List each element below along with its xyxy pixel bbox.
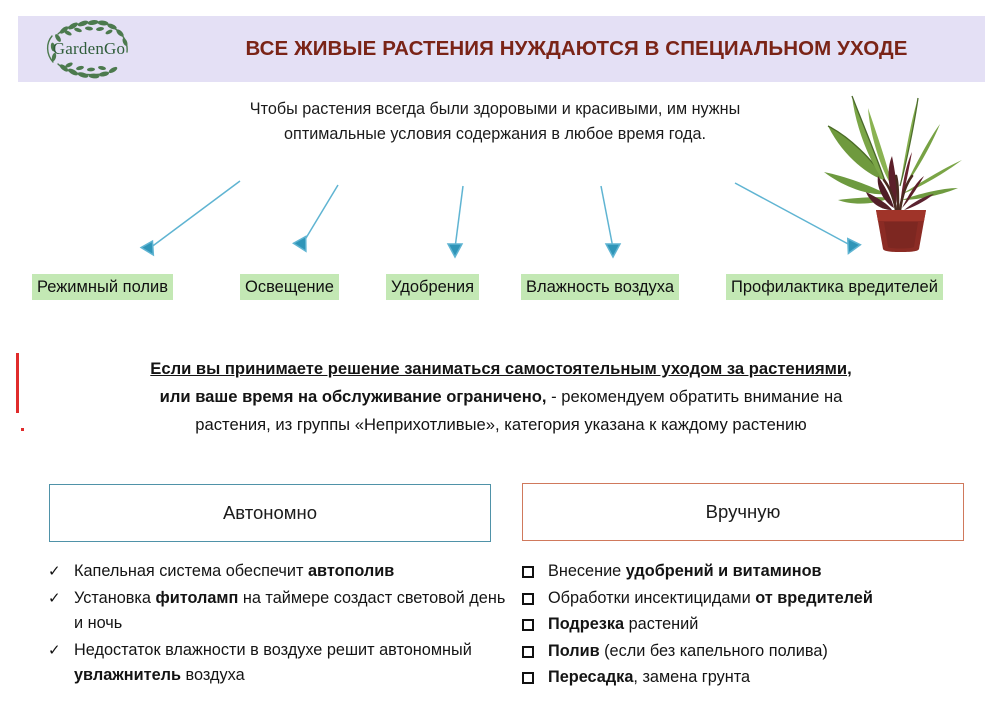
tag-profilaktika-vrediteley[interactable]: Профилактика вредителей	[726, 274, 943, 300]
manual-list: Внесение удобрений и витаминов Обработки…	[522, 559, 992, 692]
subtitle-line-2: оптимальные условия содержания в любое в…	[284, 125, 706, 143]
list-item[interactable]: ✓ Недостаток влажности в воздухе решит а…	[48, 638, 518, 689]
callout-line-2-rest: - рекомендуем обратить внимание на	[547, 387, 843, 406]
list-item-text: Обработки инсектицидами от вредителей	[548, 586, 992, 612]
list-item-text: Установка фитоламп на таймере создаст св…	[74, 586, 518, 637]
callout-accent-bar	[16, 353, 19, 413]
list-item-text: Капельная система обеспечит автополив	[74, 559, 518, 585]
column-header-autonomous-label: Автономно	[223, 502, 317, 524]
column-header-autonomous[interactable]: Автономно	[49, 484, 491, 542]
laurel-wreath-icon: GardenGo	[28, 18, 150, 80]
list-item[interactable]: Пересадка, замена грунта	[522, 665, 992, 691]
slide-canvas: GardenGo ВСЕ ЖИВЫЕ РАСТЕНИЯ НУЖДАЮТСЯ В …	[0, 0, 1000, 724]
list-item[interactable]: Внесение удобрений и витаминов	[522, 559, 992, 585]
checkbox-empty-icon[interactable]	[522, 586, 548, 612]
check-icon: ✓	[48, 559, 74, 585]
pointer-arrow-4	[601, 186, 613, 248]
list-item-text: Внесение удобрений и витаминов	[548, 559, 992, 585]
column-header-manual-label: Вручную	[706, 501, 781, 523]
list-item[interactable]: ✓ Установка фитоламп на таймере создаст …	[48, 586, 518, 637]
list-item-text: Недостаток влажности в воздухе решит авт…	[74, 638, 518, 689]
header-band: GardenGo ВСЕ ЖИВЫЕ РАСТЕНИЯ НУЖДАЮТСЯ В …	[18, 16, 985, 82]
logo-wordmark: GardenGo	[53, 39, 125, 58]
list-item-text: Полив (если без капельного полива)	[548, 639, 992, 665]
check-icon: ✓	[48, 586, 74, 612]
autonomous-list: ✓ Капельная система обеспечит автополив …	[48, 559, 518, 690]
pointer-arrow-2	[303, 185, 338, 243]
tag-vlazhnost-vozdukha[interactable]: Влажность воздуха	[521, 274, 679, 300]
callout-line-1: Если вы принимаете решение заниматься са…	[150, 359, 851, 378]
column-header-manual[interactable]: Вручную	[522, 483, 964, 541]
subtitle-line-1: Чтобы растения всегда были здоровыми и к…	[250, 100, 740, 118]
list-item[interactable]: ✓ Капельная система обеспечит автополив	[48, 559, 518, 585]
gardengo-logo: GardenGo	[28, 18, 150, 80]
checkbox-empty-icon[interactable]	[522, 559, 548, 585]
potted-plant-image	[822, 84, 982, 252]
tag-rezhimnyy-poliv[interactable]: Режимный полив	[32, 274, 173, 300]
check-icon: ✓	[48, 638, 74, 664]
tag-osveshchenie[interactable]: Освещение	[240, 274, 339, 300]
callout-text: Если вы принимаете решение заниматься са…	[36, 355, 966, 439]
subtitle: Чтобы растения всегда были здоровыми и к…	[150, 97, 840, 147]
list-item[interactable]: Обработки инсектицидами от вредителей	[522, 586, 992, 612]
checkbox-empty-icon[interactable]	[522, 639, 548, 665]
tag-udobreniya[interactable]: Удобрения	[386, 274, 479, 300]
callout-accent-dot	[21, 428, 24, 431]
list-item[interactable]: Подрезка растений	[522, 612, 992, 638]
list-item-text: Пересадка, замена грунта	[548, 665, 992, 691]
list-item[interactable]: Полив (если без капельного полива)	[522, 639, 992, 665]
checkbox-empty-icon[interactable]	[522, 665, 548, 691]
page-title: ВСЕ ЖИВЫЕ РАСТЕНИЯ НУЖДАЮТСЯ В СПЕЦИАЛЬН…	[168, 16, 985, 82]
callout-line-2-bold: или ваше время на обслуживание ограничен…	[160, 387, 547, 406]
checkbox-empty-icon[interactable]	[522, 612, 548, 638]
callout-line-3: растения, из группы «Неприхотливые», кат…	[195, 415, 806, 434]
pointer-arrow-1	[150, 181, 240, 248]
pointer-arrow-3	[455, 186, 463, 248]
list-item-text: Подрезка растений	[548, 612, 992, 638]
